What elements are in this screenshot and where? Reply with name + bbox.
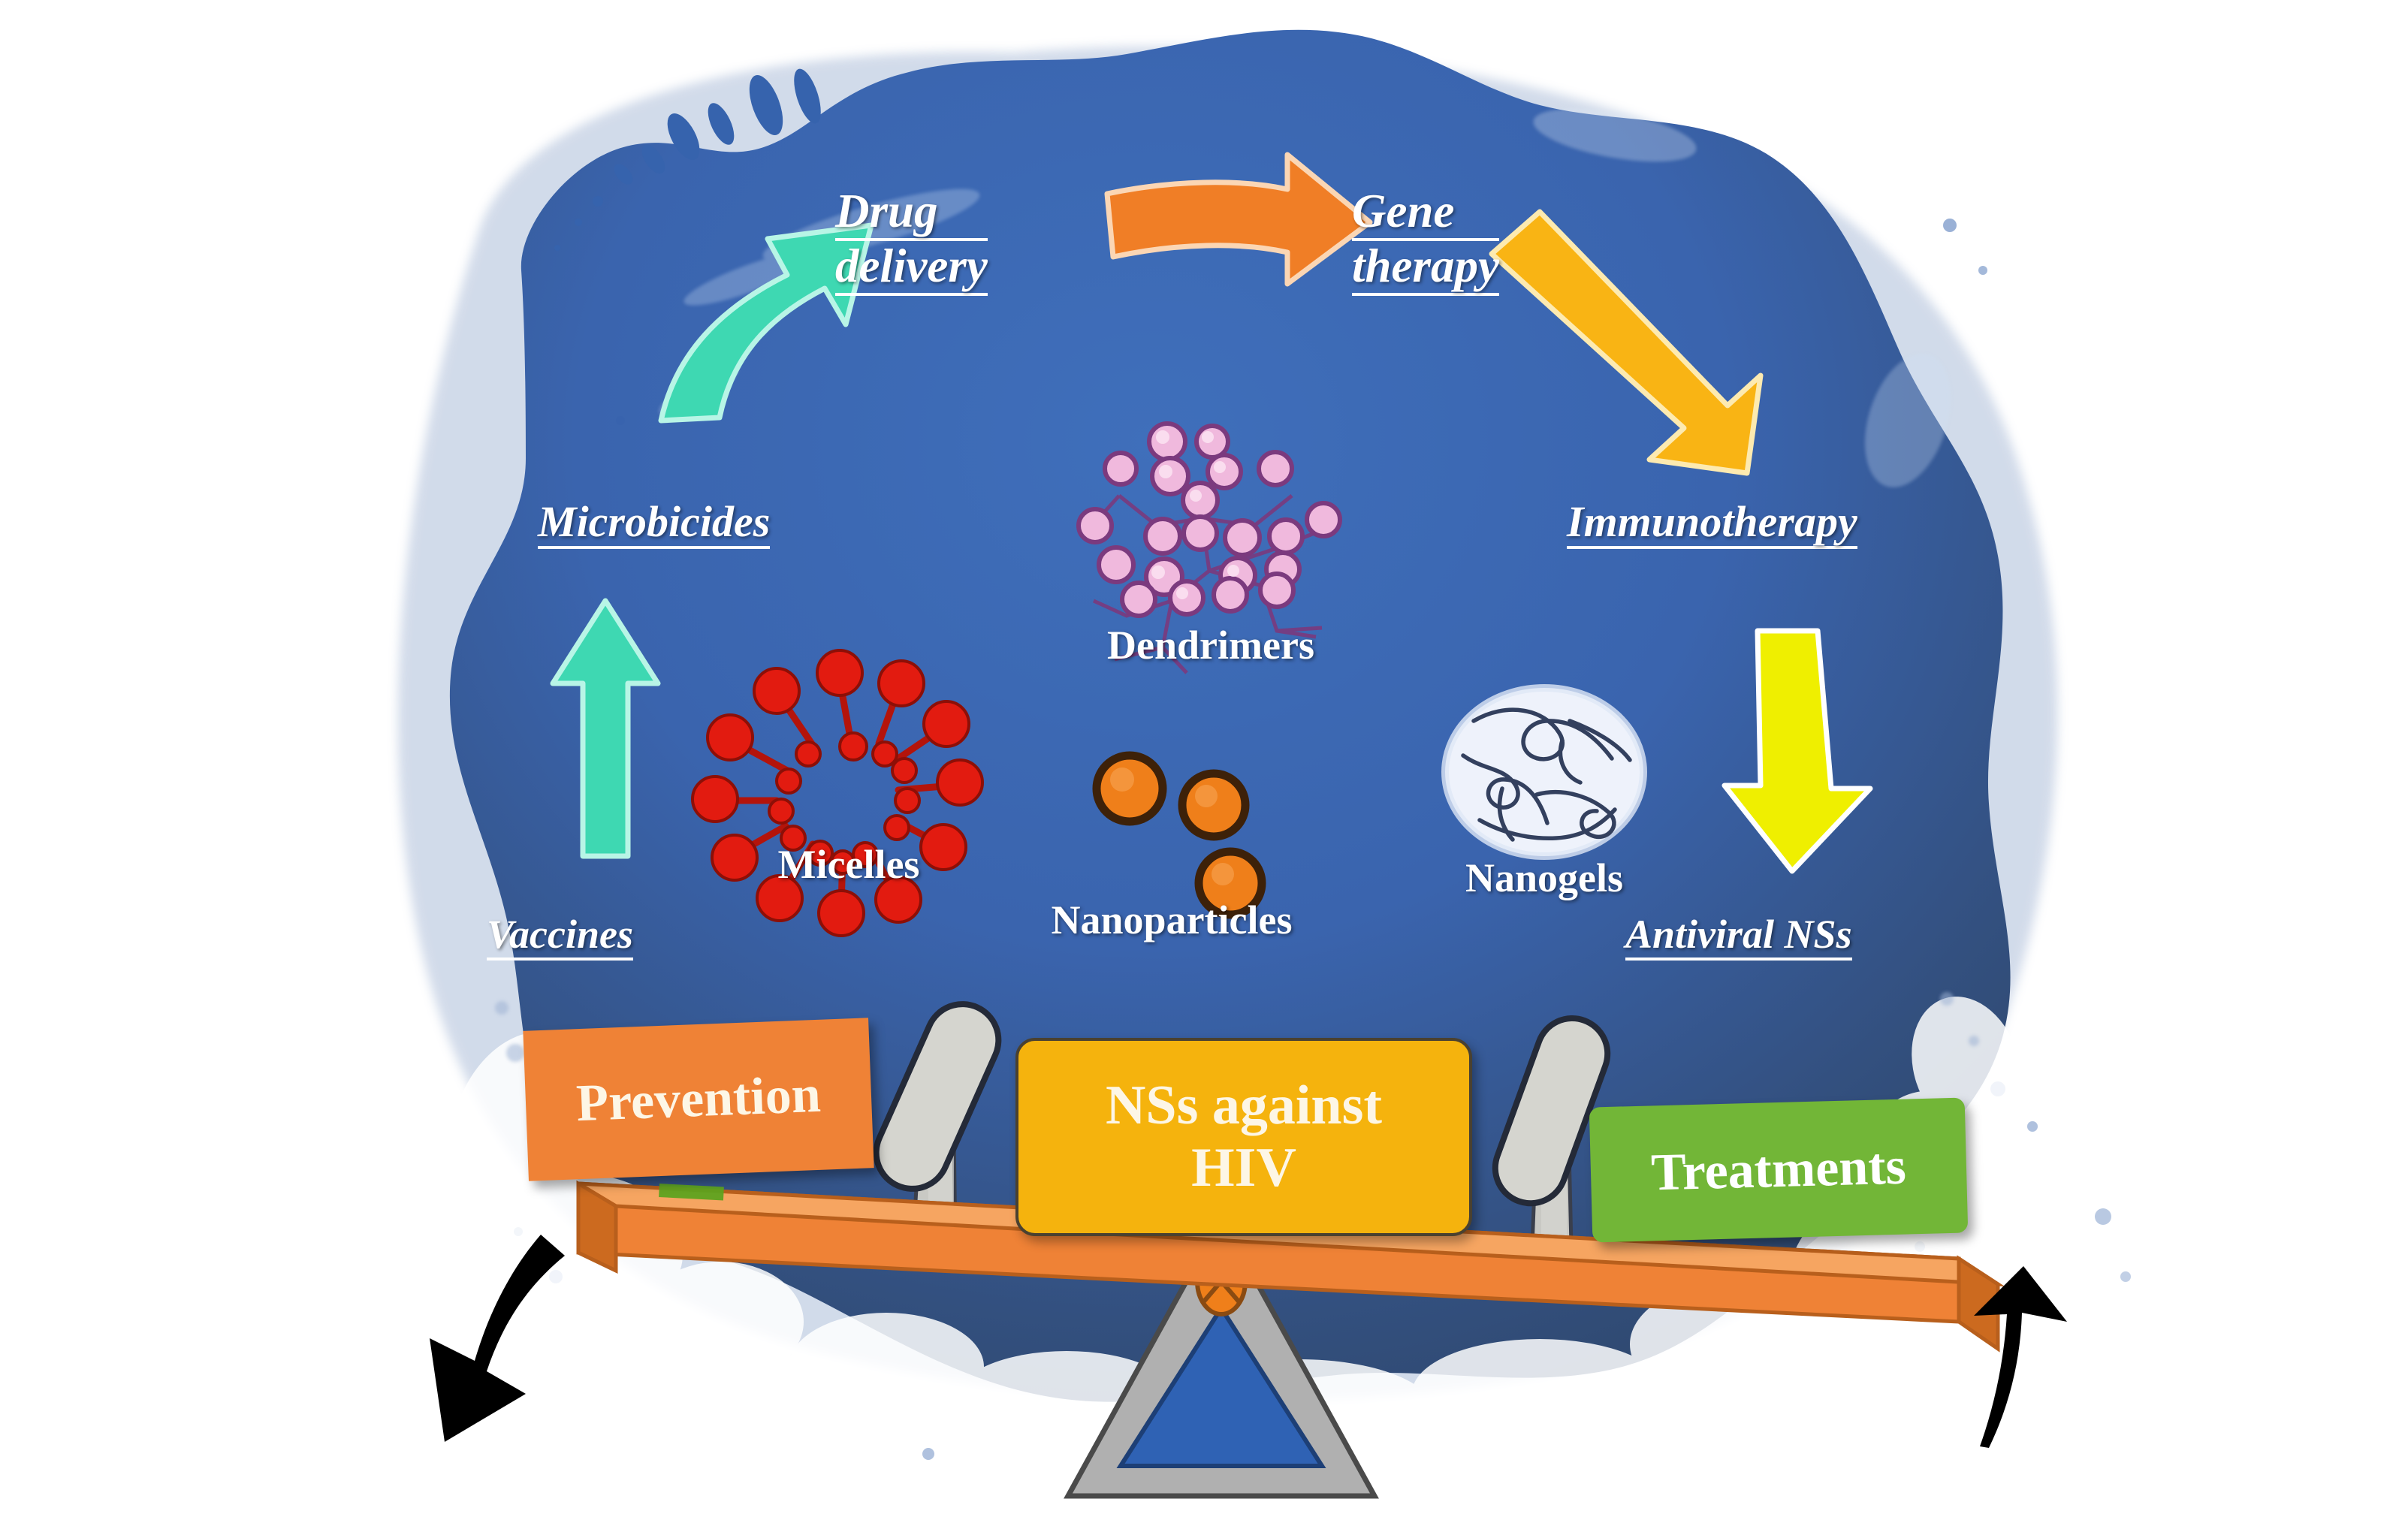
- cycle-label-immunotherapy-text: Immunotherapy: [1567, 499, 1857, 549]
- cycle-arrows: [0, 0, 2408, 1529]
- cycle-label-vaccines: Vaccines: [487, 913, 633, 961]
- cycle-label-vaccines-text: Vaccines: [487, 913, 633, 961]
- splat-highlights: [653, 98, 1966, 498]
- figure-canvas: Drug delivery Gene therapy Immunotherapy…: [0, 0, 2408, 1529]
- treatments-tag[interactable]: Treatments: [1589, 1097, 1969, 1242]
- balance-scale: [0, 0, 2408, 1529]
- nss-against-hiv-line1: NSs against: [1106, 1075, 1382, 1137]
- cycle-label-drug-delivery-line1: Drug: [835, 186, 988, 241]
- arrow-balance-down-left: [430, 1235, 565, 1442]
- cycle-label-microbicides: Microbicides: [538, 499, 770, 549]
- caption-nanoparticles: Nanoparticles: [1014, 897, 1329, 943]
- arrow-gene-therapy-to-immunotherapy: [1492, 212, 1761, 473]
- cycle-label-antiviral-nss-text: Antiviral NSs: [1625, 913, 1852, 961]
- balance-direction-arrows: [0, 0, 2408, 1529]
- nanoparticles-icon: [1097, 755, 1262, 915]
- arrow-vaccines-to-microbicides: [553, 601, 658, 856]
- micelles-icon: [693, 650, 982, 936]
- nanostructure-icons: [0, 0, 2408, 1529]
- cycle-label-gene-therapy-line1: Gene: [1352, 186, 1499, 241]
- cycle-label-drug-delivery: Drug delivery: [835, 186, 988, 296]
- treatments-tag-label: Treatments: [1650, 1137, 1906, 1202]
- nss-against-hiv-line2: HIV: [1191, 1137, 1296, 1199]
- nss-against-hiv-tag[interactable]: NSs against HIV: [1015, 1038, 1472, 1236]
- cycle-label-immunotherapy: Immunotherapy: [1567, 499, 1857, 549]
- arrow-drug-delivery-to-gene-therapy: [1107, 155, 1370, 284]
- arrow-balance-up-right: [1974, 1266, 2067, 1448]
- caption-micelles: Micelles: [721, 841, 976, 888]
- arrow-immunotherapy-to-antiviral: [1725, 631, 1870, 871]
- cycle-label-gene-therapy: Gene therapy: [1352, 186, 1499, 296]
- paint-splat-background: [0, 0, 2408, 1529]
- cycle-label-microbicides-text: Microbicides: [538, 499, 770, 549]
- prevention-tag-label: Prevention: [575, 1066, 822, 1134]
- nanogels-icon: [1445, 688, 1643, 856]
- cycle-label-gene-therapy-line2: therapy: [1352, 241, 1499, 296]
- balance-post-left: [865, 993, 1009, 1247]
- cycle-label-drug-delivery-line2: delivery: [835, 241, 988, 296]
- prevention-tag[interactable]: Prevention: [523, 1018, 874, 1181]
- splat-flecks: [514, 66, 2131, 1460]
- fulcrum: [1068, 1218, 1374, 1496]
- caption-dendrimers: Dendrimers: [1083, 622, 1338, 668]
- cycle-label-antiviral-nss: Antiviral NSs: [1625, 913, 1852, 961]
- caption-nanogels: Nanogels: [1417, 855, 1672, 901]
